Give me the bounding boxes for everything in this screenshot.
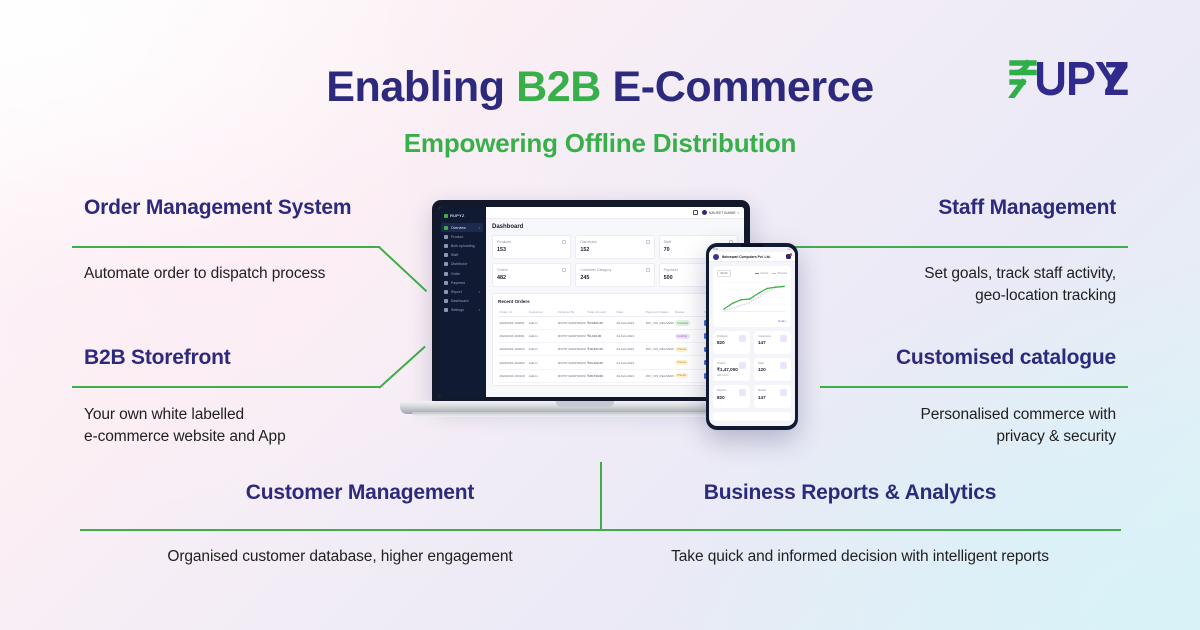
company-avatar — [713, 254, 719, 260]
cell-payment-status: PAY_ON_DELIVERY — [644, 369, 673, 382]
feature-rule-customer-management — [80, 529, 601, 531]
stat-label: Customer Category — [580, 268, 649, 272]
feature-rule-business-reports — [600, 529, 1121, 531]
cell-status: Invoiced — [674, 317, 703, 330]
tile-icon — [739, 362, 746, 369]
feature-rule-b2b-storefront — [72, 386, 380, 388]
laptop-foot — [412, 412, 738, 417]
cell-date: 21-Feb-2021 — [615, 356, 644, 369]
stat-label: Orders — [497, 268, 566, 272]
status-badge: Confirm — [675, 334, 690, 339]
tile-icon — [739, 389, 746, 396]
cart-icon[interactable] — [693, 210, 698, 215]
cell-date: 24-Feb-2021 — [615, 330, 644, 343]
feature-customer-management: Customer Management — [140, 481, 580, 505]
chart-data-point — [723, 308, 724, 310]
feature-title: Business Reports & Analytics — [620, 481, 1080, 505]
tile-subtext: 208 orders — [717, 374, 746, 377]
laptop-mockup: RUPYZ Overview▾ProductBulk uploadingStaf… — [400, 200, 750, 425]
legend-current: Current — [755, 272, 768, 275]
sidebar-item-label: Payment — [451, 281, 465, 285]
phone-app-header: Maheswari Computers Pvt. Ltd. — [709, 252, 795, 262]
stat-icon — [562, 268, 566, 272]
phone-screen: 9:41 •••• Maheswari Computers Pvt. Ltd. … — [709, 247, 795, 426]
cell-customer[interactable]: Admin — [527, 343, 556, 356]
stat-value: 245 — [580, 275, 649, 281]
sidebar-item-label: Distributor — [451, 262, 468, 266]
sidebar-item-settings[interactable]: Settings▾ — [441, 306, 483, 315]
stat-card-orders[interactable]: Orders482 — [492, 263, 571, 287]
notification-bell-icon[interactable] — [786, 254, 791, 259]
cell-order-id: 20210216-100402 — [498, 356, 527, 369]
cell-total-amount: ₹24,831.00 — [586, 317, 615, 330]
table-row[interactable]: 20210216-100001AdminROHIT WADHWANI₹24,83… — [498, 317, 732, 330]
title-part-2: E-Commerce — [601, 63, 874, 111]
feature-reports-desc-wrap: Take quick and informed decision with in… — [610, 546, 1110, 568]
cell-ordered-by: ROHIT WADHWANI — [557, 343, 586, 356]
sidebar-item-icon — [444, 308, 448, 312]
phone-tile-master[interactable]: Master147 — [754, 385, 791, 408]
sidebar-item-product[interactable]: Product — [441, 232, 483, 241]
chart-svg — [717, 279, 787, 319]
cell-customer[interactable]: Admin — [527, 369, 556, 382]
rupyz-logo[interactable] — [1006, 56, 1128, 98]
chart-data-point — [749, 298, 750, 300]
cell-ordered-by: ROHIT WADHWANI — [557, 356, 586, 369]
column-header: Order Id — [498, 308, 527, 317]
chevron-down-icon: ▾ — [737, 211, 739, 215]
title-part-1: Enabling — [326, 63, 516, 111]
chart-controls: Month Current Previous — [717, 270, 787, 277]
table-row[interactable]: 20210216-100140AdminROHIT WADHWANI₹28,74… — [498, 369, 732, 382]
sidebar-item-label: Report — [451, 290, 462, 294]
sidebar-item-icon — [444, 299, 448, 303]
stat-icon — [646, 268, 650, 272]
sidebar-item-icon — [444, 235, 448, 239]
phone-tile-customers[interactable]: Customers147 — [754, 331, 791, 354]
stat-card-distributor[interactable]: Distributor152 — [575, 235, 654, 259]
stat-value: 153 — [497, 247, 566, 253]
cell-customer[interactable]: Admin — [527, 317, 556, 330]
recent-orders-title: Recent Orders — [498, 299, 732, 304]
table-row[interactable]: 20210216-100402AdminROHIT WADHWANI₹23,16… — [498, 356, 732, 369]
sidebar-item-label: Settings — [451, 308, 464, 312]
sidebar-item-icon — [444, 272, 448, 276]
phone-bottom-card — [713, 412, 791, 421]
sidebar-item-label: Order — [451, 272, 460, 276]
sidebar-item-label: Dashboard — [451, 299, 469, 303]
dashboard-stat-cards: Products153Distributor152Staff70Orders48… — [492, 235, 738, 287]
feature-rule-customised-catalogue — [820, 386, 1128, 388]
status-time: 9:41 — [713, 248, 718, 251]
cell-status: Placed — [674, 356, 703, 369]
dashboard-sidebar: RUPYZ Overview▾ProductBulk uploadingStaf… — [438, 207, 486, 397]
cell-order-id: 20210216-100091 — [498, 330, 527, 343]
chevron-down-icon: ▾ — [478, 308, 480, 312]
company-name: Maheswari Computers Pvt. Ltd. — [722, 255, 771, 259]
phone-tile-orders[interactable]: Orders₹1,47,000208 orders — [713, 358, 750, 382]
column-header: Ordered By — [557, 308, 586, 317]
cell-payment-status: PAY_ON_DELIVERY — [644, 317, 673, 330]
chevron-down-icon: ▾ — [478, 290, 480, 294]
sidebar-item-label: Overview — [451, 226, 466, 230]
cell-total-amount: ₹18,331.00 — [586, 343, 615, 356]
stat-card-products[interactable]: Products153 — [492, 235, 571, 259]
cell-total-amount: ₹23,162.00 — [586, 356, 615, 369]
laptop-screen: RUPYZ Overview▾ProductBulk uploadingStaf… — [438, 207, 744, 397]
feature-title: Staff Management — [716, 196, 1116, 220]
stat-value: 482 — [497, 275, 566, 281]
feature-customer-desc-wrap: Organised customer database, higher enga… — [100, 546, 580, 568]
feature-desc: Organised customer database, higher enga… — [100, 546, 580, 568]
cell-payment-status: PAY_ON_DELIVERY — [644, 343, 673, 356]
cell-date: 20-Feb-2021 — [615, 369, 644, 382]
title-highlight-b2b: B2B — [516, 63, 601, 111]
column-header: Date — [615, 308, 644, 317]
stat-label: Products — [497, 240, 566, 244]
cell-date: 25-Feb-2021 — [615, 317, 644, 330]
rupyz-logo-icon — [1006, 56, 1128, 98]
cell-status: Confirm — [674, 330, 703, 343]
feature-staff-management: Staff Management — [716, 196, 1116, 220]
cell-ordered-by: ROHIT WADHWANI — [557, 369, 586, 382]
sidebar-item-distributor[interactable]: Distributor — [441, 260, 483, 269]
chart-data-point — [775, 286, 776, 288]
tile-icon — [739, 335, 746, 342]
status-badge: Invoiced — [675, 320, 690, 325]
phone-chart-card: Month Current Previous — [713, 266, 791, 327]
status-badge: Placed — [675, 347, 688, 352]
stat-icon — [646, 240, 650, 244]
cell-total-amount: ₹8,416.00 — [586, 330, 615, 343]
cell-payment-status — [644, 356, 673, 369]
tile-icon — [780, 335, 787, 342]
sidebar-item-staff[interactable]: Staff — [441, 251, 483, 260]
cell-ordered-by: ROHIT WADHWANI — [557, 317, 586, 330]
user-menu[interactable]: NAVJEET KUMAR ▾ — [702, 210, 739, 215]
recent-orders-table: Order IdCustomerOrdered ByTotal AmountDa… — [498, 308, 732, 383]
chevron-down-icon: ▾ — [478, 226, 480, 230]
cell-date: 24-Feb-2021 — [615, 343, 644, 356]
feature-desc-line-2: e-commerce website and App — [84, 426, 484, 448]
cell-customer[interactable]: Admin — [527, 330, 556, 343]
sidebar-item-bulk-uploading[interactable]: Bulk uploading — [441, 241, 483, 250]
cell-customer[interactable]: Admin — [527, 356, 556, 369]
phone-mockup: 9:41 •••• Maheswari Computers Pvt. Ltd. … — [706, 243, 798, 430]
sidebar-item-label: Staff — [451, 253, 458, 257]
laptop-lid: RUPYZ Overview▾ProductBulk uploadingStaf… — [432, 200, 750, 403]
chart-details-link[interactable]: Details › — [717, 320, 787, 323]
column-header: Total Amount — [586, 308, 615, 317]
stat-label: Distributor — [580, 240, 649, 244]
chart-data-point — [758, 292, 759, 294]
status-indicators: •••• — [787, 248, 791, 251]
chart-data-point — [741, 299, 742, 301]
sidebar-item-icon — [444, 262, 448, 266]
stat-icon — [562, 240, 566, 244]
sidebar-item-icon — [444, 253, 448, 257]
page-header: Enabling B2B E-Commerce Empowering Offli… — [0, 0, 1200, 180]
chart-legend: Current Previous — [755, 272, 787, 275]
chart-data-point — [766, 287, 767, 289]
dashboard-page-title: Dashboard — [492, 224, 738, 230]
sales-line-chart — [717, 279, 787, 319]
user-name: NAVJEET KUMAR — [709, 211, 735, 215]
page-subtitle: Empowering Offline Distribution — [0, 128, 1200, 159]
sidebar-item-report[interactable]: Report▾ — [441, 287, 483, 296]
tile-icon — [780, 389, 787, 396]
phone-tile-grid: Products820Customers147Orders₹1,47,00020… — [713, 331, 791, 409]
cell-status: Placed — [674, 343, 703, 356]
bottom-section-divider — [600, 462, 602, 530]
feature-title: Customer Management — [140, 481, 580, 505]
column-header: Status — [674, 308, 703, 317]
stat-value: 152 — [580, 247, 649, 253]
sidebar-item-overview[interactable]: Overview▾ — [441, 223, 483, 232]
cell-order-id: 20210216-100001 — [498, 317, 527, 330]
cell-payment-status — [644, 330, 673, 343]
phone-tile-reports[interactable]: Reports820 — [713, 385, 750, 408]
cell-order-id: 20210216-100140 — [498, 369, 527, 382]
sidebar-item-dashboard[interactable]: Dashboard — [441, 297, 483, 306]
column-header: Payment Status — [644, 308, 673, 317]
sidebar-item-icon — [444, 281, 448, 285]
cell-status: Placed — [674, 369, 703, 382]
phone-tile-products[interactable]: Products820 — [713, 331, 750, 354]
avatar — [702, 210, 707, 215]
status-badge: Placed — [675, 360, 688, 365]
cell-order-id: 20210216-100043 — [498, 343, 527, 356]
stat-card-customer-category[interactable]: Customer Category245 — [575, 263, 654, 287]
dashboard-topbar: NAVJEET KUMAR ▾ — [486, 207, 744, 219]
sidebar-brand-label: RUPYZ — [450, 213, 465, 218]
status-badge: Placed — [675, 373, 688, 378]
sidebar-item-label: Bulk uploading — [451, 244, 475, 248]
phone-tile-staff[interactable]: Staff120 — [754, 358, 791, 382]
table-row[interactable]: 20210216-100091AdminROHIT WADHWANI₹8,416… — [498, 330, 732, 343]
sidebar-item-icon — [444, 226, 448, 230]
hamburger-icon[interactable] — [444, 214, 448, 218]
cell-ordered-by: ROHIT WADHWANI — [557, 330, 586, 343]
tile-icon — [780, 362, 787, 369]
cell-total-amount: ₹28,740.00 — [586, 369, 615, 382]
legend-previous: Previous — [772, 272, 787, 275]
chart-period-select[interactable]: Month — [717, 270, 731, 277]
table-header-row: Order IdCustomerOrdered ByTotal AmountDa… — [498, 308, 732, 317]
table-row[interactable]: 20210216-100043AdminROHIT WADHWANI₹18,33… — [498, 343, 732, 356]
sidebar-item-icon — [444, 244, 448, 248]
chart-data-point — [784, 285, 785, 287]
phone-body: 9:41 •••• Maheswari Computers Pvt. Ltd. … — [706, 243, 798, 430]
sidebar-logo: RUPYZ — [441, 211, 483, 223]
sidebar-item-icon — [444, 290, 448, 294]
sidebar-item-label: Product — [451, 235, 463, 239]
feature-rule-order-management — [72, 246, 380, 248]
sidebar-item-order[interactable]: Order — [441, 269, 483, 278]
feature-business-reports-analytics: Business Reports & Analytics — [620, 481, 1080, 505]
sidebar-item-payment[interactable]: Payment — [441, 278, 483, 287]
column-header: Customer — [527, 308, 556, 317]
recent-orders-panel: Recent Orders Order IdCustomerOrdered By… — [492, 293, 738, 386]
chart-data-point — [732, 302, 733, 304]
laptop-base-notch — [556, 401, 614, 407]
feature-desc: Take quick and informed decision with in… — [610, 546, 1110, 568]
